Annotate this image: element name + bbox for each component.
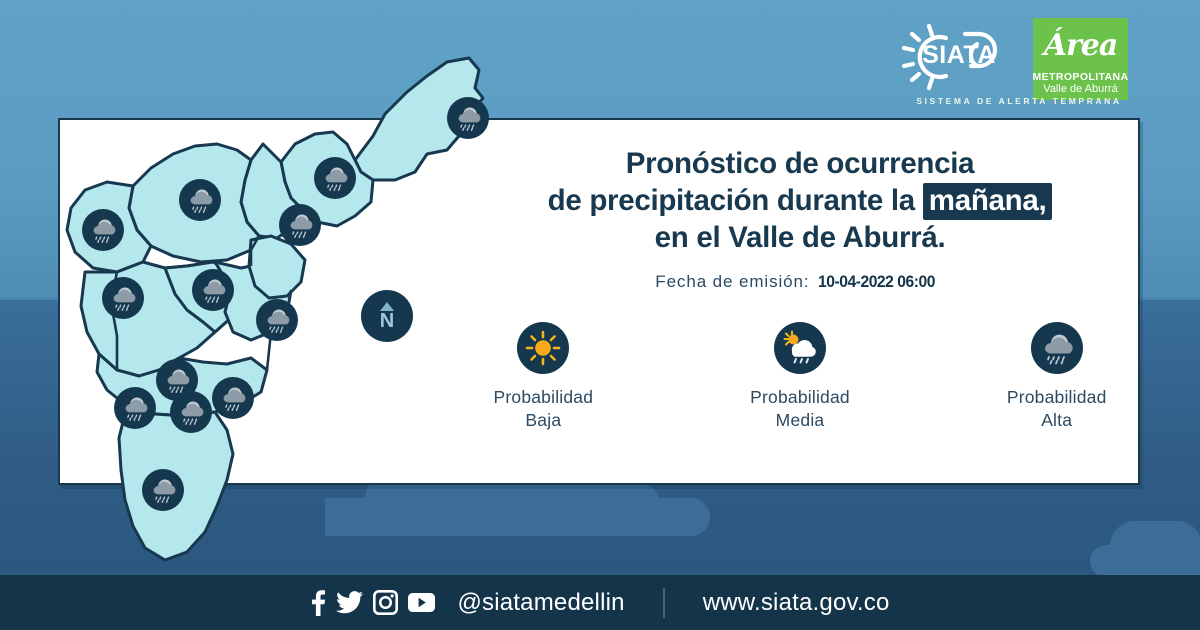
title-line-2: de precipitación durante la mañana,: [470, 182, 1130, 219]
map-station-cloud-rain-icon: [114, 387, 156, 429]
sun-icon: [517, 322, 569, 374]
compass-label: N: [380, 312, 394, 330]
legend-label-alta: Probabilidad Alta: [1007, 386, 1107, 432]
map-station-cloud-rain-icon: [212, 377, 254, 419]
legend-label-baja: Probabilidad Baja: [493, 386, 593, 432]
legend-label-baja-line2: Baja: [493, 409, 593, 432]
map-station-cloud-rain-icon: [102, 277, 144, 319]
issue-date-label: Fecha de emisión:: [655, 272, 809, 292]
legend-item-alta: Probabilidad Alta: [983, 322, 1130, 432]
instagram-icon[interactable]: [373, 590, 398, 615]
siata-logo: SIATA: [899, 18, 1019, 94]
tagline: SISTEMA DE ALERTA TEMPRANA: [910, 96, 1128, 106]
area-logo-line1: METROPOLITANA: [1033, 71, 1129, 83]
valle-de-aburra-map: N: [55, 40, 485, 580]
map-station-cloud-rain-icon: [82, 209, 124, 251]
compass-north-badge: N: [361, 290, 413, 342]
title-line-3: en el Valle de Aburrá.: [470, 219, 1130, 256]
footer-content: @siatamedellin www.siata.gov.co: [310, 588, 889, 618]
social-links[interactable]: [310, 590, 435, 616]
siata-logo-text: SIATA: [922, 41, 996, 69]
map-station-cloud-rain-icon: [256, 299, 298, 341]
map-station-cloud-rain-icon: [179, 179, 221, 221]
page-title: Pronóstico de ocurrencia de precipitació…: [470, 145, 1130, 256]
youtube-icon[interactable]: [408, 592, 435, 613]
brand-logos: SIATA Área METROPOLITANA Valle de Aburrá: [899, 18, 1128, 100]
footer-bar: @siatamedellin www.siata.gov.co: [0, 575, 1200, 630]
map-station-cloud-rain-icon: [142, 469, 184, 511]
legend-label-media-line2: Media: [750, 409, 850, 432]
social-handle[interactable]: @siatamedellin: [457, 589, 624, 617]
map-station-cloud-rain-icon: [170, 391, 212, 433]
title-highlight-periodo: mañana,: [923, 183, 1053, 220]
legend-label-media: Probabilidad Media: [750, 386, 850, 432]
issue-date-value: 10-04-2022 06:00: [818, 272, 935, 292]
area-metropolitana-logo: Área METROPOLITANA Valle de Aburrá: [1033, 18, 1128, 100]
map-station-cloud-rain-icon: [447, 97, 489, 139]
decorative-cloud-icon: [1090, 545, 1200, 577]
infographic-root: SIATA Área METROPOLITANA Valle de Aburrá…: [0, 0, 1200, 630]
legend-item-media: Probabilidad Media: [727, 322, 874, 432]
area-logo-line2: Valle de Aburrá: [1043, 83, 1117, 96]
cloud-rain-icon: [1031, 322, 1083, 374]
legend-label-media-line1: Probabilidad: [750, 386, 850, 409]
title-line-2-text: de precipitación durante la: [548, 184, 923, 217]
facebook-icon[interactable]: [310, 590, 326, 616]
legend-label-baja-line1: Probabilidad: [493, 386, 593, 409]
map-station-cloud-rain-icon: [314, 157, 356, 199]
sun-cloud-rain-icon: [774, 322, 826, 374]
twitter-icon[interactable]: [336, 591, 363, 614]
legend-item-baja: Probabilidad Baja: [470, 322, 617, 432]
legend-label-alta-line2: Alta: [1007, 409, 1107, 432]
area-logo-script: Área: [1033, 20, 1128, 70]
probability-legend: Probabilidad Baja: [470, 322, 1130, 432]
legend-label-alta-line1: Probabilidad: [1007, 386, 1107, 409]
issue-date-row: Fecha de emisión: 10-04-2022 06:00: [470, 272, 1130, 292]
website-url[interactable]: www.siata.gov.co: [703, 589, 890, 617]
map-station-cloud-rain-icon: [279, 204, 321, 246]
title-line-1: Pronóstico de ocurrencia: [470, 145, 1130, 182]
footer-divider: [663, 588, 665, 618]
map-station-cloud-rain-icon: [192, 269, 234, 311]
forecast-panel: Pronóstico de ocurrencia de precipitació…: [470, 145, 1130, 432]
